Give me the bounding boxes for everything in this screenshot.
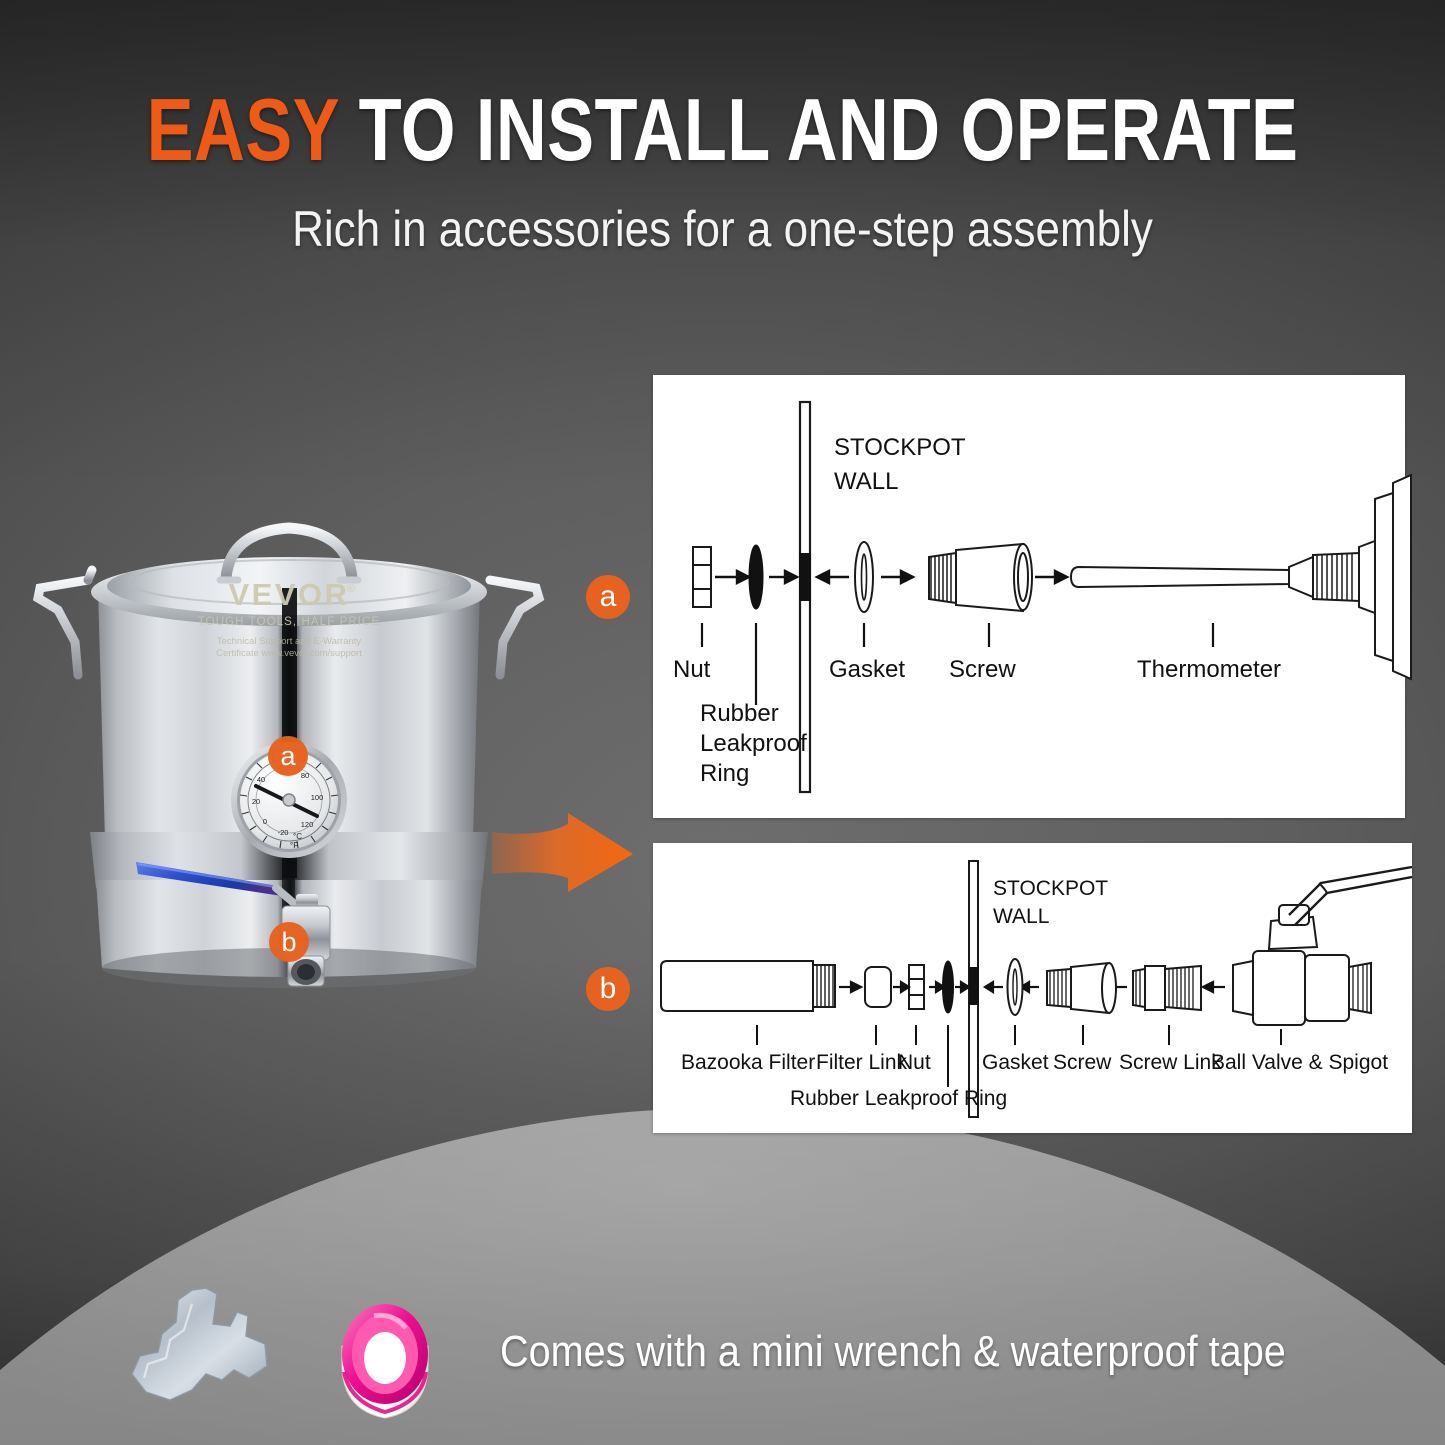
part-nut-b bbox=[909, 965, 924, 1009]
ptfe-tape-icon bbox=[330, 1302, 440, 1424]
svg-text:40: 40 bbox=[257, 775, 265, 784]
title-accent-word: EASY bbox=[147, 80, 339, 179]
wall-seal-b bbox=[969, 967, 979, 1005]
part-ball-valve-spigot bbox=[1233, 867, 1412, 1025]
svg-text:100: 100 bbox=[311, 793, 324, 802]
svg-text:20: 20 bbox=[252, 797, 260, 806]
pot-badge-a: a bbox=[268, 736, 308, 776]
pot-handle-right bbox=[490, 580, 539, 675]
wall-seal-a bbox=[799, 553, 811, 601]
header-block: EASY TO INSTALL AND OPERATE Rich in acce… bbox=[0, 86, 1445, 254]
label-screw: Screw bbox=[949, 656, 1016, 683]
brand-name: VEVOR bbox=[228, 577, 349, 612]
label-rubber-leakproof-ring-3: Ring bbox=[700, 760, 749, 787]
label-gasket-b: Gasket bbox=[982, 1051, 1049, 1074]
svg-text:0: 0 bbox=[263, 817, 267, 826]
part-screw-link bbox=[1133, 966, 1201, 1010]
panel-badge-b: b bbox=[586, 967, 630, 1011]
gauge-unit-celsius: °C bbox=[293, 832, 302, 841]
part-gasket-a bbox=[855, 542, 873, 612]
pot-badge-b: b bbox=[269, 922, 309, 962]
label-screw-b: Screw bbox=[1053, 1051, 1112, 1074]
label-bazooka-filter: Bazooka Filter bbox=[681, 1051, 815, 1074]
svg-text:-20: -20 bbox=[278, 828, 289, 837]
label-rubber-leakproof-ring-1: Rubber bbox=[700, 700, 779, 727]
orange-pointer-arrow bbox=[490, 812, 640, 902]
infographic-canvas: EASY TO INSTALL AND OPERATE Rich in acce… bbox=[0, 0, 1445, 1445]
panel-b-labels: Bazooka Filter Filter Link Nut Rubber Le… bbox=[681, 1051, 1388, 1110]
panel-a-wall-title-1: STOCKPOT bbox=[834, 434, 966, 461]
page-title: EASY TO INSTALL AND OPERATE bbox=[145, 86, 1301, 174]
bottom-note-text: Comes with a mini wrench & waterproof ta… bbox=[500, 1330, 1274, 1374]
label-gasket: Gasket bbox=[829, 656, 905, 683]
brand-tagline: TOUGH TOOLS, HALF PRICE bbox=[198, 616, 381, 628]
part-gasket-b bbox=[1008, 959, 1023, 1015]
title-rest: TO INSTALL AND OPERATE bbox=[339, 80, 1299, 179]
page-subtitle: Rich in accessories for a one-step assem… bbox=[87, 204, 1359, 254]
part-screw-b bbox=[1047, 963, 1116, 1013]
panel-badge-a: a bbox=[586, 575, 630, 619]
brand-registered-mark: ® bbox=[347, 583, 355, 595]
label-screw-link: Screw Link bbox=[1119, 1051, 1222, 1074]
label-ball-valve-spigot: Ball Valve & Spigot bbox=[1211, 1051, 1388, 1074]
pot-handle-left bbox=[38, 570, 92, 675]
panel-a-labels: Nut Rubber Leakproof Ring Gasket Screw T… bbox=[673, 656, 1281, 787]
diagram-panel-thermometer: STOCKPOT WALL bbox=[653, 375, 1405, 818]
part-screw-a bbox=[929, 544, 1032, 611]
svg-text:80: 80 bbox=[301, 771, 309, 780]
part-thermometer-a bbox=[1071, 475, 1411, 679]
label-nut-b: Nut bbox=[898, 1051, 931, 1074]
diagram-panel-valve: STOCKPOT WALL bbox=[653, 843, 1412, 1133]
gauge-needle-hub bbox=[283, 794, 295, 806]
panel-b-wall-title-2: WALL bbox=[993, 905, 1049, 928]
brand-support-line-2: Certificate www.vevor.com/support bbox=[216, 648, 362, 659]
part-bazooka-filter bbox=[661, 961, 835, 1011]
part-nut-a bbox=[693, 547, 711, 607]
label-rubber-leakproof-ring-b: Rubber Leakproof Ring bbox=[790, 1087, 1007, 1110]
gauge-unit-fahrenheit: °F bbox=[290, 841, 298, 850]
panel-a-wall-title-2: WALL bbox=[834, 468, 898, 495]
label-filter-link: Filter Link bbox=[816, 1051, 908, 1074]
panel-b-wall-title-1: STOCKPOT bbox=[993, 877, 1108, 900]
label-thermometer: Thermometer bbox=[1137, 656, 1281, 683]
part-filter-link bbox=[865, 967, 891, 1007]
label-rubber-leakproof-ring-2: Leakproof bbox=[700, 730, 807, 757]
wrench-icon bbox=[118, 1282, 283, 1422]
svg-text:120: 120 bbox=[301, 820, 314, 829]
label-nut: Nut bbox=[673, 656, 711, 683]
brand-support-line-1: Technical Support and E-Warranty bbox=[217, 636, 362, 647]
